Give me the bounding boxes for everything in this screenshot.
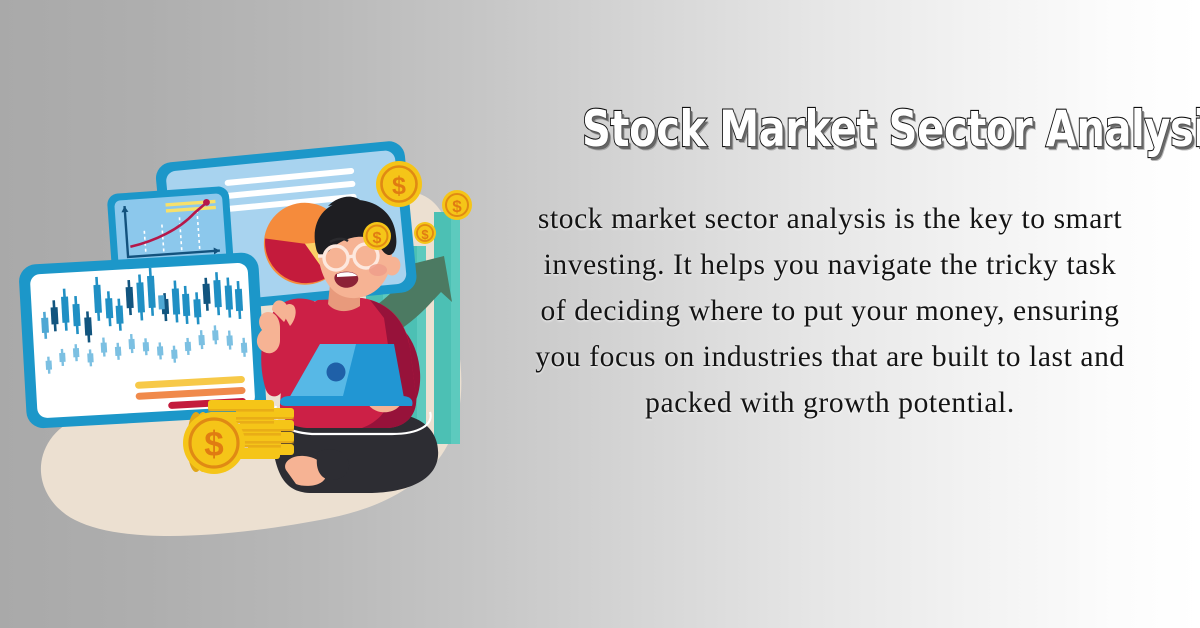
floating-coin-4: $ bbox=[414, 222, 436, 244]
coin-large: $ bbox=[183, 412, 245, 474]
page-title: Stock Market Sector Analysis bbox=[582, 100, 1078, 158]
body-paragraph: stock market sector analysis is the key … bbox=[534, 196, 1126, 426]
cheek-blush bbox=[369, 264, 387, 276]
text-column: Stock Market Sector Analysis stock marke… bbox=[520, 0, 1180, 628]
svg-text:$: $ bbox=[452, 197, 462, 216]
floating-coin-3: $ bbox=[363, 222, 391, 250]
svg-text:$: $ bbox=[392, 172, 406, 200]
svg-text:$: $ bbox=[421, 227, 429, 242]
banner-root: $ $ $ $ bbox=[0, 0, 1200, 628]
svg-text:$: $ bbox=[204, 425, 223, 464]
svg-text:$: $ bbox=[373, 230, 382, 247]
laptop-logo bbox=[327, 363, 346, 382]
illustration-investor-with-laptop-and-charts: $ $ $ $ bbox=[0, 0, 520, 628]
floating-coin-2: $ bbox=[442, 190, 472, 220]
floating-coin-1: $ bbox=[376, 161, 422, 207]
